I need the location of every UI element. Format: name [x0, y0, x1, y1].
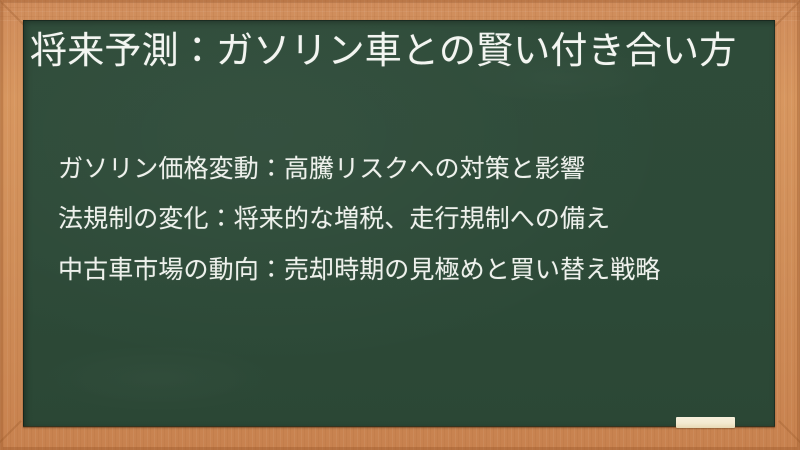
- chalk-tray-lip: [23, 426, 775, 428]
- chalkboard: 将来予測：ガソリン車との賢い付き合い方 ガソリン価格変動：高騰リスクへの対策と影…: [23, 20, 775, 427]
- list-item: ガソリン価格変動：高騰リスクへの対策と影響: [58, 152, 758, 185]
- list-item: 中古車市場の動向：売却時期の見極めと買い替え戦略: [58, 253, 758, 286]
- chalkboard-slide: 将来予測：ガソリン車との賢い付き合い方 ガソリン価格変動：高騰リスクへの対策と影…: [0, 0, 800, 450]
- frame-top-grain: [0, 0, 800, 21]
- page-title: 将来予測：ガソリン車との賢い付き合い方: [30, 27, 760, 74]
- list-item: 法規制の変化：将来的な増税、走行規制への備え: [58, 202, 758, 235]
- chalkboard-content: 将来予測：ガソリン車との賢い付き合い方 ガソリン価格変動：高騰リスクへの対策と影…: [23, 20, 775, 427]
- chalk-stick-icon: [676, 417, 735, 428]
- bullet-list: ガソリン価格変動：高騰リスクへの対策と影響 法規制の変化：将来的な増税、走行規制…: [58, 152, 758, 286]
